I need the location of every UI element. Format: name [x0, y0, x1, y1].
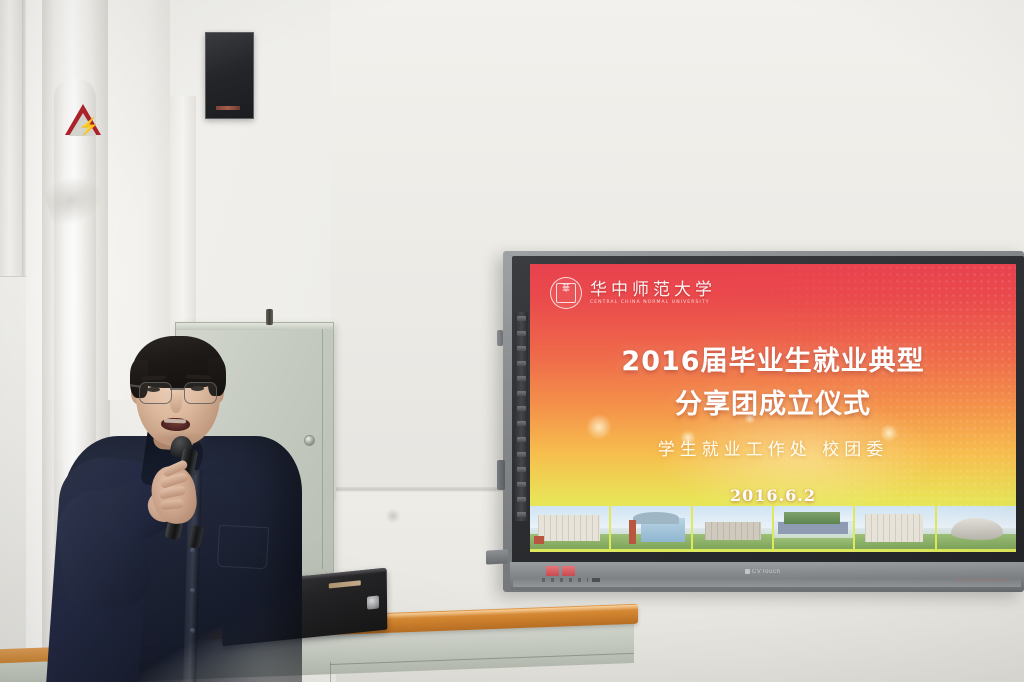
- presenter: [40, 330, 340, 682]
- presentation-slide: 華 华中师范大学 CENTRAL CHINA NORMAL UNIVERSITY…: [530, 264, 1016, 552]
- shirt-button: [190, 628, 195, 633]
- display-side-button[interactable]: [517, 497, 526, 502]
- display-brand-icon: [745, 569, 750, 574]
- cabinet-bolt: [266, 309, 273, 325]
- display-side-button[interactable]: [517, 512, 526, 517]
- display-ir-receiver: [592, 578, 600, 582]
- university-logo-lockup: 華 华中师范大学 CENTRAL CHINA NORMAL UNIVERSITY: [550, 277, 716, 309]
- display-side-button[interactable]: [517, 421, 526, 426]
- laptop-latch-icon: [367, 595, 379, 609]
- display-side-button[interactable]: [517, 376, 526, 381]
- slide-title-line-1: 2016届毕业生就业典型: [530, 340, 1016, 383]
- university-seal-icon: 華: [550, 277, 582, 309]
- campus-photo: [611, 506, 690, 549]
- eyeglasses-right-lens-icon: [184, 382, 217, 404]
- campus-photo: [855, 506, 934, 549]
- presenter-nose: [170, 392, 182, 413]
- display-side-button[interactable]: [517, 331, 526, 336]
- wall-speaker: [205, 32, 254, 119]
- display-lower-bezel-inner: [513, 578, 1021, 587]
- university-name-block: 华中师范大学 CENTRAL CHINA NORMAL UNIVERSITY: [590, 281, 716, 306]
- display-side-button[interactable]: [517, 406, 526, 411]
- photograph-scene: ⚡ 華 华中师范大学 CENTR: [0, 0, 1024, 682]
- wall-panel-lower-left: [0, 276, 26, 682]
- display-brand-text: CVTouch: [752, 569, 781, 575]
- display-side-button[interactable]: [517, 437, 526, 442]
- display-wall-bracket: [486, 549, 508, 564]
- eyeglasses-left-lens-icon: [139, 382, 172, 404]
- display-side-button[interactable]: [517, 467, 526, 472]
- speaker-brand-badge: [216, 106, 240, 110]
- campus-photo: [937, 506, 1016, 549]
- eyeglasses-bridge: [170, 388, 184, 390]
- university-name-cn: 华中师范大学: [590, 281, 716, 300]
- display-side-button[interactable]: [517, 346, 526, 351]
- university-name-en: CENTRAL CHINA NORMAL UNIVERSITY: [590, 300, 716, 306]
- shirt-button: [190, 588, 195, 593]
- presenter-shirt-pocket: [217, 525, 269, 570]
- shirt-button: [190, 548, 195, 553]
- display-control-buttons[interactable]: [542, 578, 588, 582]
- power-indicator-light: [546, 566, 559, 576]
- slide-organizers: 学生就业工作处 校团委: [530, 439, 1016, 461]
- campus-photo: [693, 506, 772, 549]
- lightning-bolt-icon: ⚡: [78, 118, 99, 135]
- slide-title: 2016届毕业生就业典型 分享团成立仪式: [530, 340, 1016, 426]
- campus-photo: [530, 506, 609, 549]
- display-mount-lower: [497, 460, 505, 490]
- display-side-button[interactable]: [517, 391, 526, 396]
- display-side-button[interactable]: [517, 361, 526, 366]
- slide-date: 2016.6.2: [530, 486, 1016, 505]
- display-mount-upper: [497, 330, 503, 346]
- wall-smudge: [386, 508, 400, 524]
- display-side-button[interactable]: [517, 316, 526, 321]
- display-model-label: [958, 578, 1006, 582]
- display-side-button-panel[interactable]: [515, 312, 528, 521]
- campus-photo-strip: [530, 504, 1016, 552]
- display-side-button[interactable]: [517, 452, 526, 457]
- presenter-teeth: [164, 419, 186, 424]
- campus-photo: [774, 506, 853, 549]
- seal-glyph: 華: [551, 284, 581, 293]
- status-indicator-light: [562, 566, 575, 576]
- slide-title-line-2: 分享团成立仪式: [530, 383, 1016, 426]
- cabinet-top-rail: [176, 323, 333, 330]
- display-side-button[interactable]: [517, 482, 526, 487]
